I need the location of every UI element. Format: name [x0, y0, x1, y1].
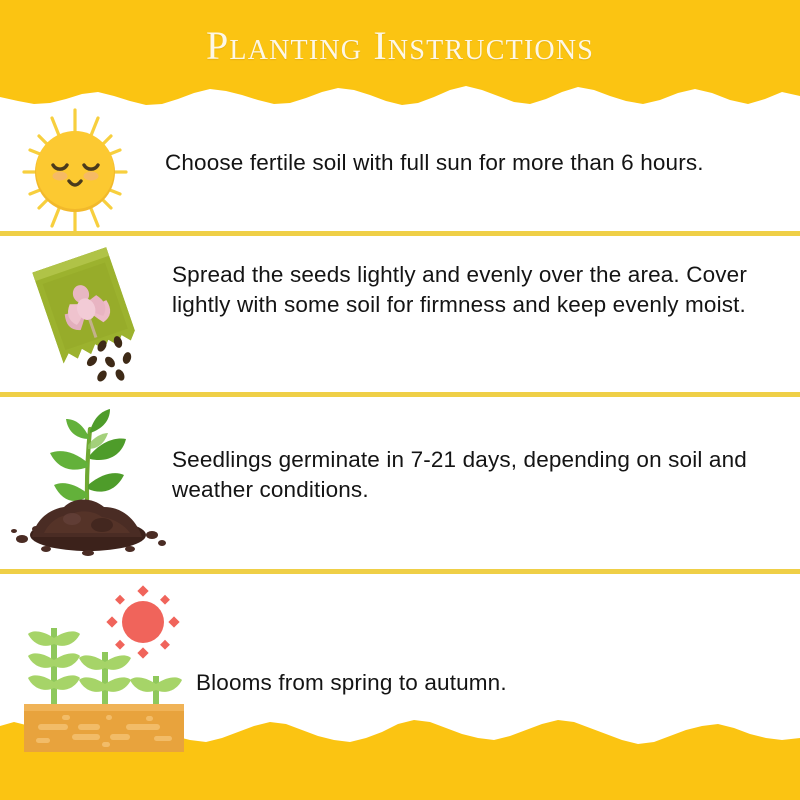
coral-sun-icon [106, 585, 179, 658]
divider-1 [0, 231, 800, 236]
step-row-2: Spread the seeds lightly and evenly over… [0, 236, 800, 392]
divider-2 [0, 392, 800, 397]
step-3-text: Seedlings germinate in 7-21 days, depend… [172, 445, 797, 505]
smiling-sun-icon [6, 102, 158, 247]
planting-instructions-infographic: Planting Instructions [0, 0, 800, 800]
step-row-1: Choose fertile soil with full sun for mo… [0, 112, 800, 231]
step-row-3: Seedlings germinate in 7-21 days, depend… [0, 397, 800, 569]
step-1-text: Choose fertile soil with full sun for mo… [165, 148, 795, 178]
plant-medium [79, 652, 131, 706]
header-band: Planting Instructions [0, 0, 800, 112]
seedling-in-soil-icon [10, 407, 170, 564]
seed-packet-icon [14, 242, 164, 397]
plant-short [130, 676, 182, 706]
garden-bed-plants-icon [6, 582, 196, 757]
step-2-text: Spread the seeds lightly and evenly over… [172, 260, 782, 320]
page-title: Planting Instructions [0, 24, 800, 68]
soil-mound [11, 500, 166, 557]
soil-bed [24, 704, 184, 752]
step-4-text: Blooms from spring to autumn. [196, 668, 756, 698]
divider-3 [0, 569, 800, 574]
plant-tall [28, 628, 80, 706]
